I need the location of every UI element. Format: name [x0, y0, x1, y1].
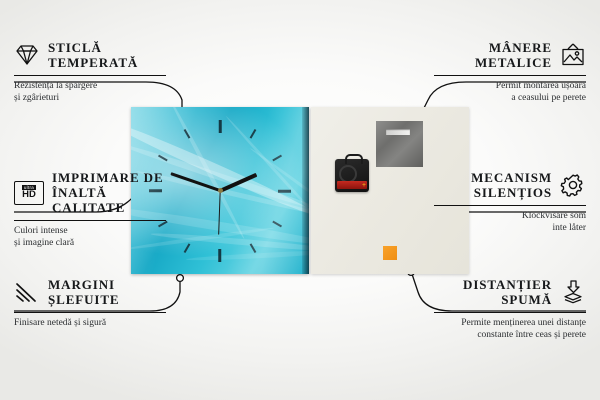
feature-desc: Permite menținerea unei distanțe — [434, 317, 586, 329]
feature-desc-2: inte låter — [434, 222, 586, 234]
diamond-icon — [14, 43, 40, 67]
clock-center-hub — [218, 188, 223, 193]
feature-desc: Finisare netedă și sigură — [14, 317, 166, 329]
feature-title: MARGINI — [48, 277, 120, 292]
beveled-edges-icon — [14, 280, 40, 304]
foam-spacer-pad — [383, 246, 397, 260]
metal-hanger-plate — [376, 121, 423, 167]
feature-desc-2: constante între ceas și perete — [434, 329, 586, 341]
divider — [14, 312, 166, 313]
feature-title-2: ÎNALTĂ CALITATE — [52, 185, 166, 215]
feature-title: STICLĂ — [48, 40, 138, 55]
connector-dot-polished-edges — [177, 275, 184, 282]
feature-desc: Rezistență la spargere — [14, 80, 166, 92]
divider — [14, 220, 166, 221]
feature-title-2: ȘLEFUITE — [48, 292, 120, 307]
feature-high-quality-print: ultraHD IMPRIMARE DE ÎNALTĂ CALITATE Cul… — [14, 170, 166, 249]
feature-title: IMPRIMARE DE — [52, 170, 166, 185]
feature-desc: Klockvisare som — [434, 210, 586, 222]
feature-desc-2: și zgârieturi — [14, 92, 166, 104]
divider — [434, 75, 586, 76]
ultra-hd-icon: ultraHD — [14, 181, 44, 205]
feature-desc-2: și imagine clară — [14, 237, 166, 249]
feature-title: MECANISM — [471, 170, 552, 185]
wall-hanger-frame-icon — [560, 43, 586, 67]
feature-title: DISTANȚIER — [463, 277, 552, 292]
feature-polished-edges: MARGINI ȘLEFUITE Finisare netedă și sigu… — [14, 277, 166, 329]
feature-silent-mechanism: MECANISM SILENȚIOS Klockvisare som inte … — [434, 170, 586, 234]
feature-tempered-glass: STICLĂ TEMPERATĂ Rezistență la spargere … — [14, 40, 166, 104]
product-image: + — [131, 107, 469, 274]
gear-icon — [560, 173, 586, 197]
stacked-layers-down-arrow-icon — [560, 280, 586, 304]
feature-desc-2: a ceasului pe perete — [434, 92, 586, 104]
feature-title-2: SILENȚIOS — [471, 185, 552, 200]
hanger-slot — [386, 129, 410, 135]
divider — [14, 75, 166, 76]
feature-title-2: METALICE — [475, 55, 552, 70]
feature-desc: Culori intense — [14, 225, 166, 237]
feature-title: MÂNERE — [475, 40, 552, 55]
feature-desc: Permit montarea ușoară — [434, 80, 586, 92]
mechanism-hook — [345, 154, 363, 164]
feature-foam-spacer: DISTANȚIER SPUMĂ Permite menținerea unei… — [434, 277, 586, 341]
clock-mechanism: + — [335, 159, 369, 192]
feature-metal-handles: MÂNERE METALICE Permit montarea ușoară a… — [434, 40, 586, 104]
infographic-canvas: + STICLĂ TEMPERATĂ Rezistență la sparger… — [0, 0, 600, 400]
battery: + — [337, 181, 367, 189]
divider — [434, 205, 586, 206]
divider — [434, 312, 586, 313]
feature-title-2: SPUMĂ — [463, 292, 552, 307]
feature-title-2: TEMPERATĂ — [48, 55, 138, 70]
